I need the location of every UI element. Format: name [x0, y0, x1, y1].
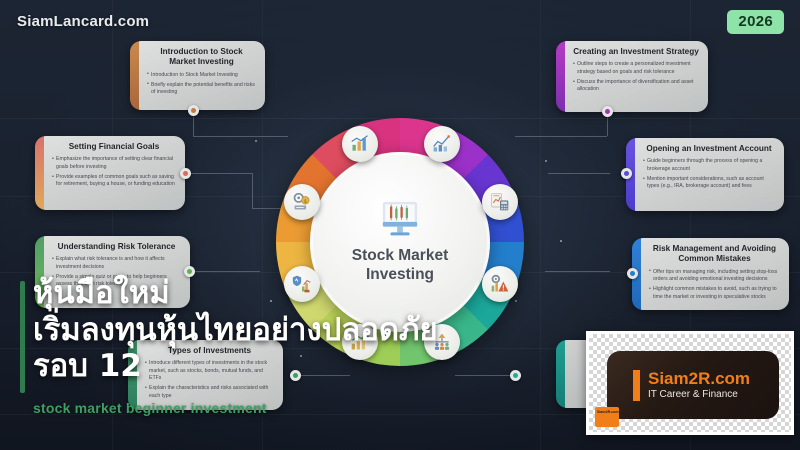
card-stripe: [130, 41, 139, 110]
svg-text:$: $: [304, 199, 307, 205]
spoke-coin-settings-icon[interactable]: $: [284, 184, 320, 220]
spoke-chart-city-icon[interactable]: [424, 126, 460, 162]
spoke-calculator-report-icon[interactable]: [482, 184, 518, 220]
card-title: Creating an Investment Strategy: [573, 47, 699, 57]
subline-keywords: stock market beginner investment: [33, 400, 267, 416]
card-risk-management-and-avoiding-common-mistakes[interactable]: Risk Management and Avoiding Common Mist…: [632, 238, 789, 310]
card-title: Opening an Investment Account: [643, 144, 775, 154]
stock-chart-monitor-icon: [377, 200, 423, 240]
card-title: Risk Management and Avoiding Common Mist…: [649, 244, 780, 265]
coin-settings-icon: $: [292, 192, 312, 212]
card-node-dot: [602, 106, 613, 117]
logo-card-frame: Siam2R.com IT Career & Finance Siam2R.co…: [586, 331, 794, 435]
connector-line: [193, 136, 288, 137]
chart-city-icon: [432, 134, 452, 154]
card-node-dot: [510, 370, 521, 381]
headline-line-2: เริ่มลงทุนหุ้นไทยอย่างปลอดภัย: [33, 312, 503, 349]
connector-line: [252, 173, 253, 208]
logo-accent-bar: [633, 370, 640, 401]
card-creating-an-investment-strategy[interactable]: Creating an Investment Strategy Outline …: [556, 41, 708, 112]
connector-line: [548, 173, 610, 174]
card-bullet: Briefly explain the potential benefits a…: [147, 82, 256, 97]
card-bullet: Provide examples of common goals such as…: [52, 174, 176, 189]
card-stripe: [556, 41, 565, 112]
card-stripe: [35, 136, 44, 210]
card-bullet: Discuss the importance of diversificatio…: [573, 79, 699, 94]
connector-line: [515, 136, 607, 137]
card-setting-financial-goals[interactable]: Setting Financial Goals Emphasize the im…: [35, 136, 185, 210]
card-node-dot: [188, 105, 199, 116]
card-bullet: Guide beginners through the process of o…: [643, 158, 775, 173]
card-bullet: Introduction to Stock Market Investing: [147, 72, 256, 79]
logo-tagline: IT Career & Finance: [648, 389, 750, 400]
card-opening-an-investment-account[interactable]: Opening an Investment Account Guide begi…: [626, 138, 784, 211]
card-bullet: Offer tips on managing risk, including s…: [649, 269, 780, 284]
logo-badge: Siam2R.com: [595, 407, 619, 427]
card-node-dot: [180, 168, 191, 179]
headline-overlay: หุ้นมือใหม่ เริ่มลงทุนหุ้นไทยอย่างปลอดภั…: [33, 275, 503, 385]
card-bullet: Highlight common mistakes to avoid, such…: [649, 286, 780, 301]
connector-line: [190, 173, 252, 174]
card-node-dot: [621, 168, 632, 179]
headline-line-1: หุ้นมือใหม่: [33, 275, 503, 312]
year-badge: 2026: [727, 10, 784, 34]
card-title: Setting Financial Goals: [52, 142, 176, 152]
page-title: SiamLancard.com: [17, 13, 149, 30]
card-node-dot: [627, 268, 638, 279]
card-stripe: [556, 340, 565, 408]
card-title: Understanding Risk Tolerance: [52, 242, 181, 252]
card-bullet: Outline steps to create a personalized i…: [573, 61, 699, 76]
connector-line: [545, 271, 610, 272]
spoke-bar-chart-growth-icon[interactable]: [342, 126, 378, 162]
logo-plate[interactable]: Siam2R.com IT Career & Finance: [607, 351, 779, 419]
connector-line: [190, 271, 260, 272]
calculator-report-icon: [490, 192, 510, 212]
headline-line-3: รอบ 12: [33, 348, 503, 385]
card-bullet: Explain what risk tolerance is and how i…: [52, 256, 181, 271]
card-bullet: Explain the characteristics and risks as…: [145, 385, 274, 400]
headline-accent-bar: [20, 281, 25, 393]
logo-name: Siam2R.com: [648, 370, 750, 389]
card-bullet: Emphasize the importance of setting clea…: [52, 156, 176, 171]
card-bullet: Mention important considerations, such a…: [643, 176, 775, 191]
bar-chart-growth-icon: [350, 134, 370, 154]
card-title: Introduction to Stock Market Investing: [147, 47, 256, 68]
card-introduction-to-stock-market-investing[interactable]: Introduction to Stock Market Investing I…: [130, 41, 265, 110]
